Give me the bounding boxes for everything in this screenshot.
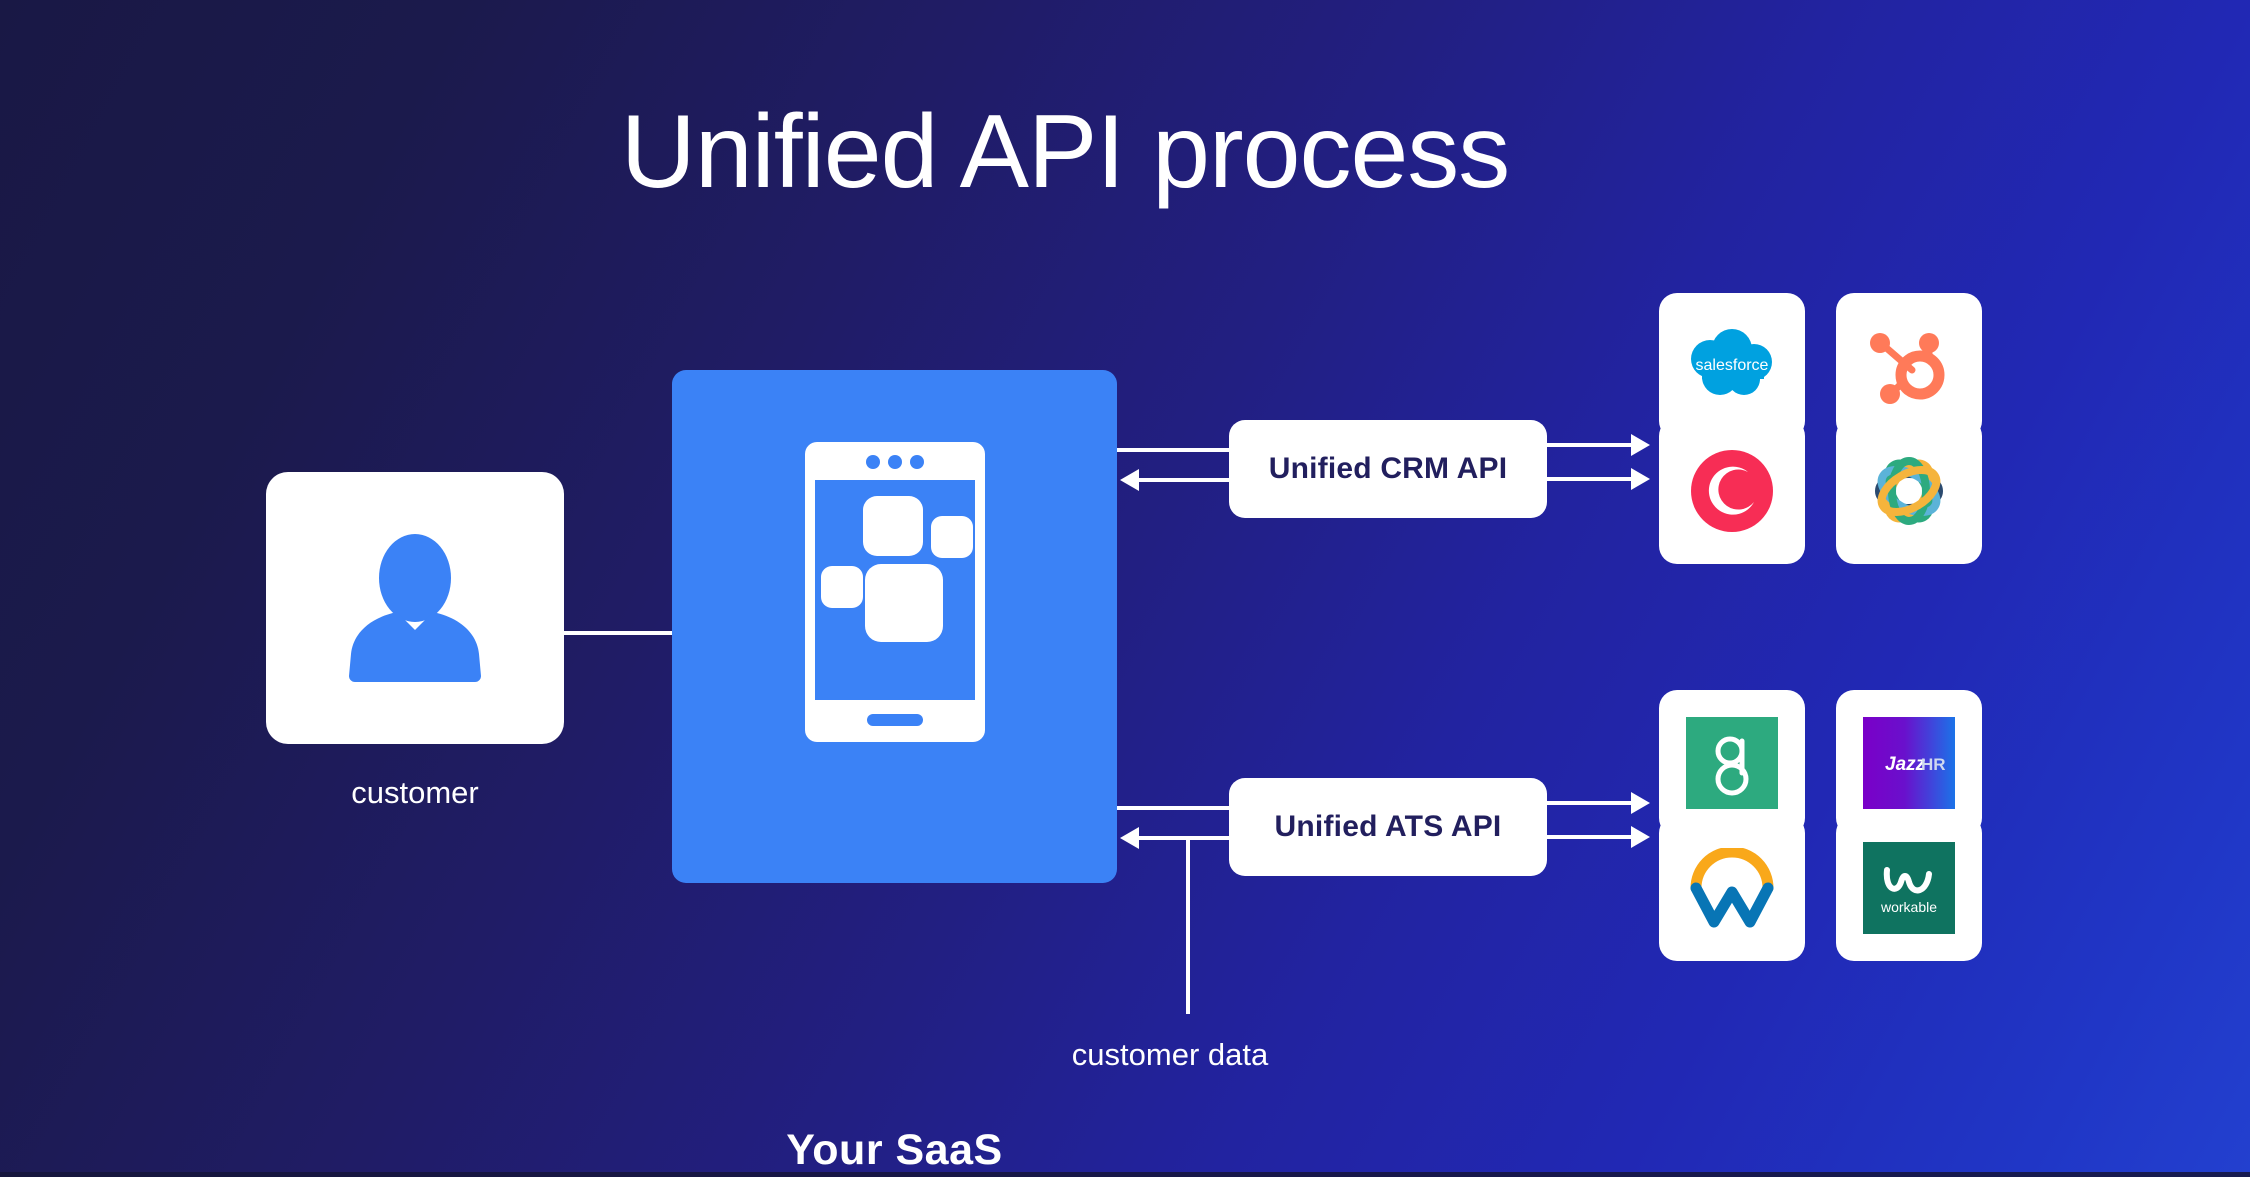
your-saas-card: Your SaaS [672,370,1117,883]
connector-saas-to-crm-api [1117,448,1235,452]
your-saas-label: Your SaaS [672,1126,1117,1175]
arrow-left-crm-return-icon [1120,469,1139,491]
connector-crm-api-out-top [1547,443,1633,447]
connector-customer-to-saas [564,631,676,635]
integration-card-workable[interactable]: workable [1836,815,1982,961]
hubspot-logo [1866,323,1952,409]
arrow-right-ats-top-icon [1631,792,1650,814]
greenhouse-logo [1686,717,1778,809]
svg-text:salesforce: salesforce [1696,357,1769,374]
unified-ats-api-box: Unified ATS API [1229,778,1547,876]
arrow-left-ats-return-icon [1120,827,1139,849]
jazzhr-logo: Jazz HR [1863,717,1955,809]
arrow-right-crm-bottom-icon [1631,468,1650,490]
integration-card-workday[interactable] [1659,815,1805,961]
person-icon [327,532,503,684]
customer-label: customer [266,775,564,811]
diagram-canvas: Unified API process customer Your SaaS [0,0,2250,1177]
unified-crm-api-box: Unified CRM API [1229,420,1547,518]
connector-ats-api-out-bottom [1547,835,1633,839]
salesforce-logo: salesforce [1682,329,1782,403]
integration-card-insightly[interactable] [1836,418,1982,564]
workable-logo: workable [1863,842,1955,934]
arrow-right-crm-top-icon [1631,434,1650,456]
insightly-logo [1863,445,1955,537]
svg-text:HR: HR [1921,755,1946,774]
svg-text:Jazz: Jazz [1885,754,1926,775]
unified-ats-api-label: Unified ATS API [1275,810,1502,844]
connector-crm-api-to-saas [1139,478,1235,482]
connector-ats-api-out-top [1547,801,1633,805]
connector-saas-to-ats-api [1117,806,1235,810]
unified-crm-api-label: Unified CRM API [1269,452,1508,486]
customer-data-label: customer data [1000,1037,1340,1073]
copper-logo [1691,450,1773,532]
bottom-edge-strip [0,1172,2250,1177]
arrow-right-ats-bottom-icon [1631,826,1650,848]
customer-card [266,472,564,744]
page-title: Unified API process [0,100,2250,204]
workday-logo [1686,848,1778,928]
integration-card-copper[interactable] [1659,418,1805,564]
svg-text:workable: workable [1880,899,1937,915]
connector-crm-api-out-bottom [1547,477,1633,481]
connector-customer-data [1186,838,1190,1014]
mobile-phone-apps-icon [805,442,985,742]
